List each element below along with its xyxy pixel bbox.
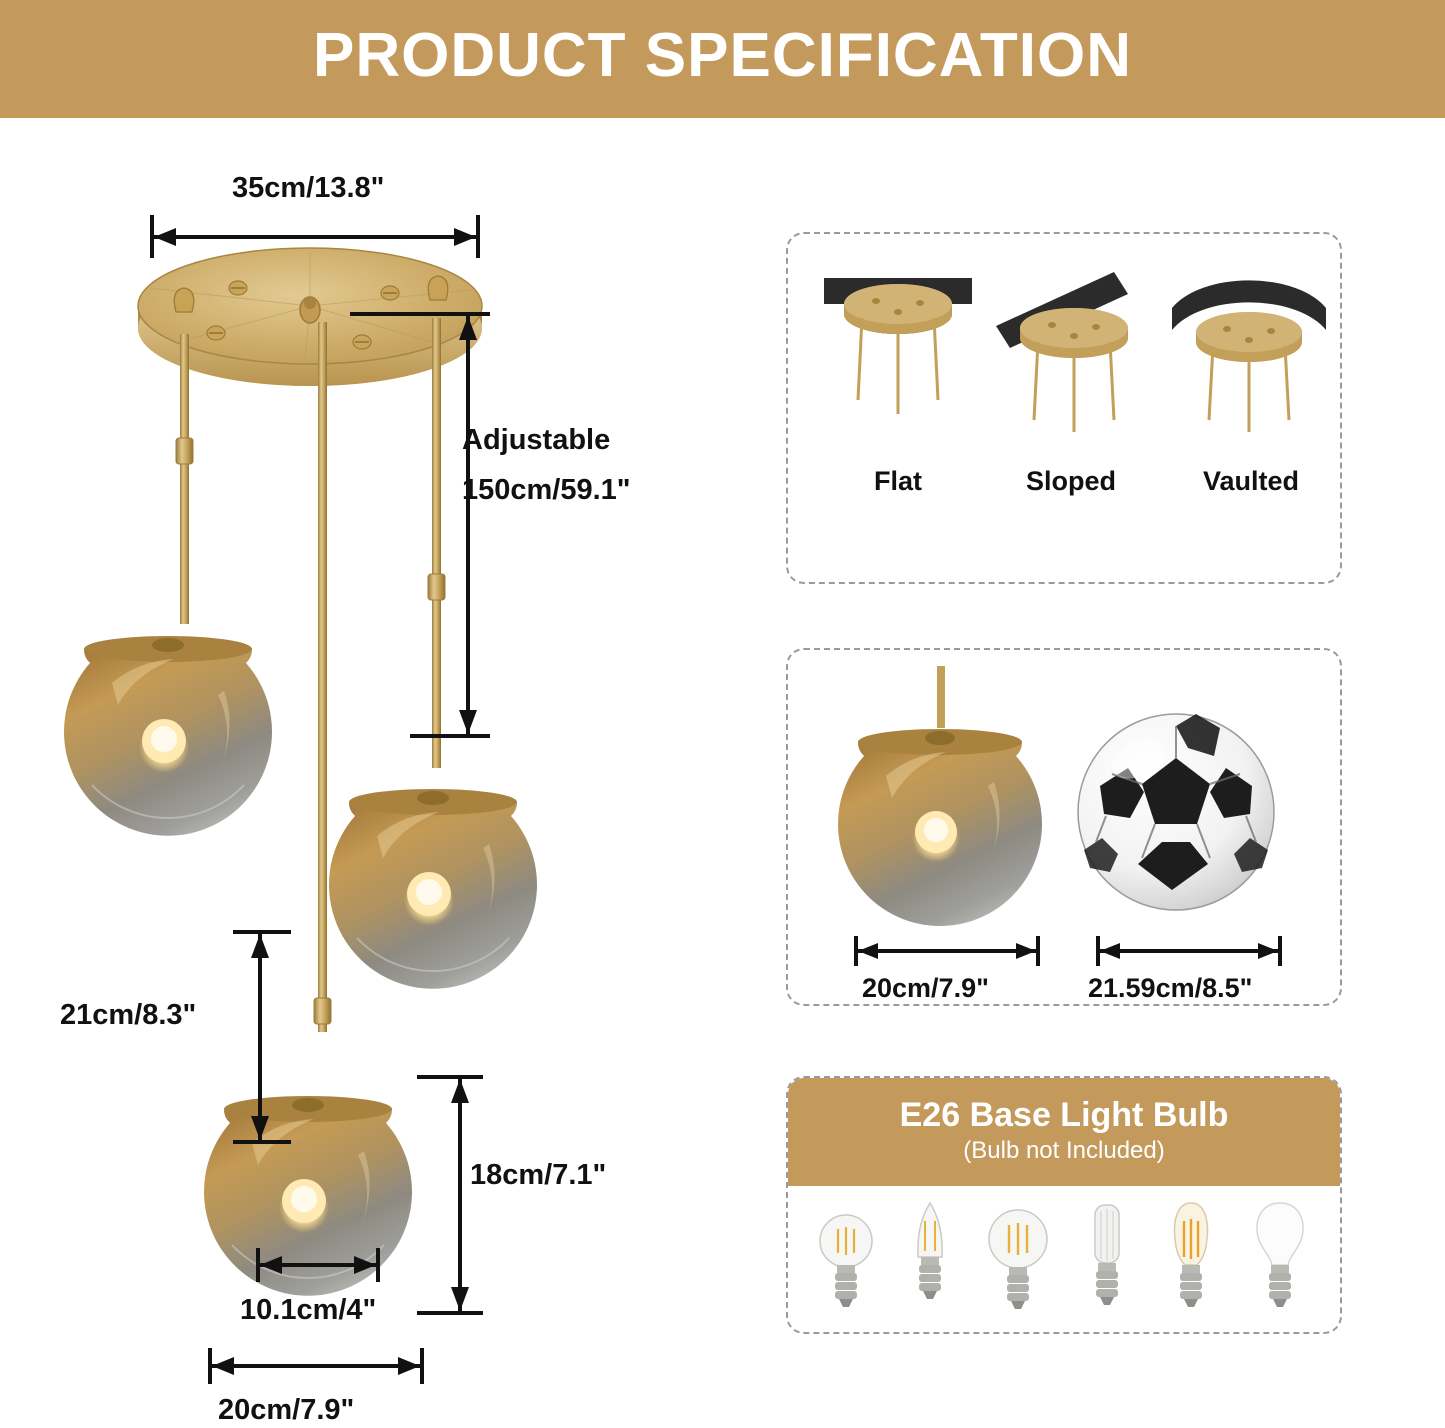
corn-led-bulb-icon <box>1084 1199 1130 1319</box>
vaulted-ceiling-icon <box>1166 268 1336 454</box>
ceiling-mount-types-box: Flat Sloped <box>786 232 1342 584</box>
adjustable-text-label: Adjustable <box>462 423 610 458</box>
adjustable-length-label: 150cm/59.1" <box>462 473 631 508</box>
st64-edison-bulb-icon <box>1165 1199 1217 1319</box>
candle-filament-bulb-icon <box>907 1199 953 1319</box>
mount-label-sloped: Sloped <box>986 466 1156 497</box>
adjustable-dimension-arrow <box>350 296 540 756</box>
shade-neck-width-label: 10.1cm/4" <box>240 1293 376 1328</box>
soccer-ball-measure-arrow <box>1092 936 1292 972</box>
pendant-measure-label: 20cm/7.9" <box>862 972 989 1005</box>
stagger-drop-dimension-arrow <box>215 928 295 1178</box>
product-diagram-panel: 35cm/13.8" <box>0 118 760 1422</box>
bulb-type-strip <box>788 1186 1340 1332</box>
pendant-shade-2 <box>325 766 555 996</box>
canopy-width-label: 35cm/13.8" <box>232 171 384 206</box>
mount-label-flat: Flat <box>818 466 978 497</box>
bulb-box-title: E26 Base Light Bulb <box>900 1097 1229 1134</box>
page-header: PRODUCT SPECIFICATION <box>0 0 1445 118</box>
globe-filament-bulb-icon <box>988 1199 1048 1319</box>
sloped-ceiling-icon <box>986 262 1156 454</box>
flat-ceiling-icon <box>818 274 978 454</box>
size-comparison-pendant <box>836 666 1056 916</box>
soccer-ball-icon <box>1076 712 1296 922</box>
g45-filament-bulb-icon <box>820 1199 872 1319</box>
shade-width-dimension-arrow <box>200 1348 440 1390</box>
bulb-info-box: E26 Base Light Bulb (Bulb not Included) <box>786 1076 1342 1334</box>
shade-height-label: 18cm/7.1" <box>470 1158 606 1193</box>
bulb-box-subtitle: (Bulb not Included) <box>963 1134 1164 1168</box>
bulb-box-header: E26 Base Light Bulb (Bulb not Included) <box>788 1078 1340 1186</box>
shade-height-dimension-arrow <box>415 1073 495 1343</box>
stagger-drop-label: 21cm/8.3" <box>60 998 196 1033</box>
shade-neck-dimension-arrow <box>250 1248 390 1288</box>
pendant-shade-1 <box>60 613 290 843</box>
soccer-ball-measure-label: 21.59cm/8.5" <box>1088 972 1252 1005</box>
a19-frosted-bulb-icon <box>1252 1199 1308 1319</box>
size-comparison-box: 20cm/7.9" 21.59cm/8.5" <box>786 648 1342 1006</box>
shade-width-label: 20cm/7.9" <box>218 1393 354 1428</box>
mount-label-vaulted: Vaulted <box>1166 466 1336 497</box>
pendant-measure-arrow <box>850 936 1050 972</box>
page-title: PRODUCT SPECIFICATION <box>313 25 1132 93</box>
